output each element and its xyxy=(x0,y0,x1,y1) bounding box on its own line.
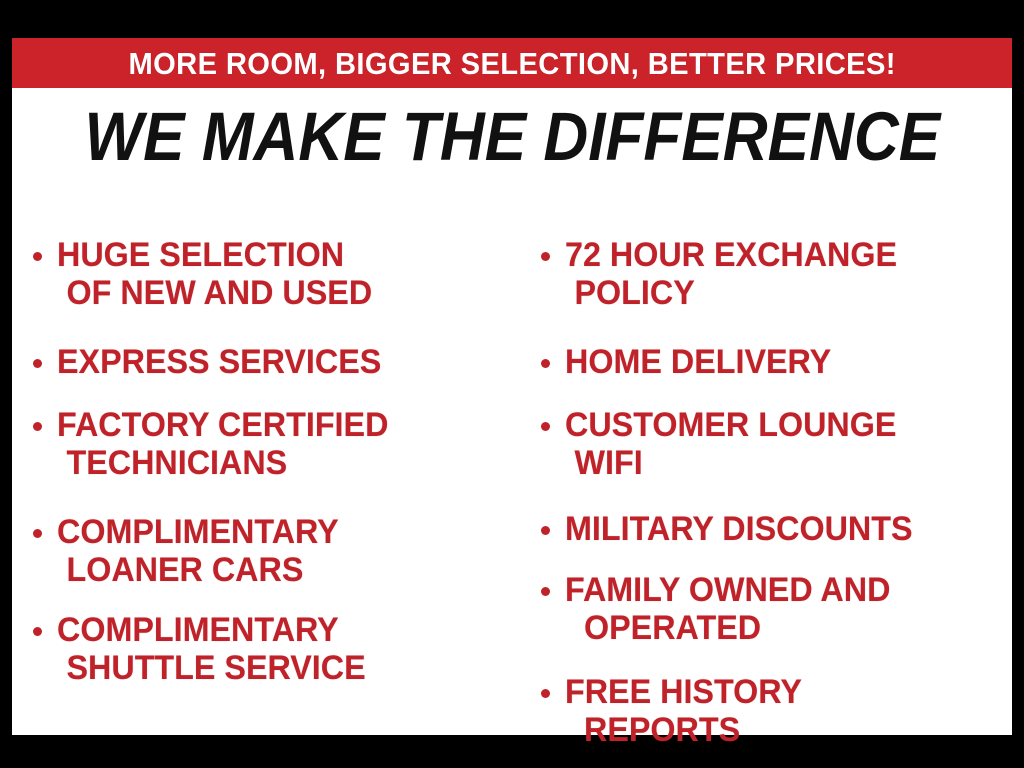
bullet-dot-icon xyxy=(33,529,42,538)
benefit-item-text: FACTORY CERTIFIEDTECHNICIANS xyxy=(57,406,512,482)
benefit-item: FAMILY OWNED ANDOPERATED xyxy=(532,571,1017,647)
benefit-item-text: HOME DELIVERY xyxy=(565,343,1017,381)
benefit-item-line: HOME DELIVERY xyxy=(565,343,994,381)
benefit-item: MILITARY DISCOUNTS xyxy=(532,510,1017,548)
bullet-dot-icon xyxy=(541,587,550,596)
benefit-item-line: 72 HOUR EXCHANGE xyxy=(565,236,994,274)
benefit-item-text: FAMILY OWNED ANDOPERATED xyxy=(565,571,1017,647)
bullet-dot-icon xyxy=(541,252,550,261)
benefit-item: HOME DELIVERY xyxy=(532,343,1017,381)
benefit-item: EXPRESS SERVICES xyxy=(24,343,512,381)
bullet-dot-icon xyxy=(33,627,42,636)
benefits-column-left: HUGE SELECTIONOF NEW AND USEDEXPRESS SER… xyxy=(12,198,512,735)
promo-banner-text: MORE ROOM, BIGGER SELECTION, BETTER PRIC… xyxy=(128,48,895,79)
benefit-item-line: FAMILY OWNED AND xyxy=(565,571,994,609)
benefit-item-text: EXPRESS SERVICES xyxy=(57,343,512,381)
promo-banner: MORE ROOM, BIGGER SELECTION, BETTER PRIC… xyxy=(12,38,1012,88)
benefit-item-line: MILITARY DISCOUNTS xyxy=(565,510,994,548)
benefit-item-line: TECHNICIANS xyxy=(57,444,489,482)
benefit-item-line: FACTORY CERTIFIED xyxy=(57,406,489,444)
benefit-item-text: FREE HISTORYREPORTS xyxy=(565,673,1017,749)
benefits-column-right: 72 HOUR EXCHANGEPOLICYHOME DELIVERYCUSTO… xyxy=(517,198,1017,735)
benefit-item-line: HUGE SELECTION xyxy=(57,236,489,274)
headline-text: WE MAKE THE DIFFERENCE xyxy=(84,102,940,171)
benefit-item: COMPLIMENTARYSHUTTLE SERVICE xyxy=(24,611,512,687)
benefit-item-line: COMPLIMENTARY xyxy=(57,513,489,551)
benefit-item-line: OF NEW AND USED xyxy=(57,274,489,312)
bullet-dot-icon xyxy=(541,359,550,368)
benefit-item: COMPLIMENTARYLOANER CARS xyxy=(24,513,512,589)
benefit-item-text: CUSTOMER LOUNGEWIFI xyxy=(565,406,1017,482)
benefit-item-text: COMPLIMENTARYLOANER CARS xyxy=(57,513,512,589)
benefit-item-text: COMPLIMENTARYSHUTTLE SERVICE xyxy=(57,611,512,687)
benefit-item-line: CUSTOMER LOUNGE xyxy=(565,406,994,444)
benefit-item-line: WIFI xyxy=(565,444,994,482)
benefit-item-line: COMPLIMENTARY xyxy=(57,611,489,649)
benefit-item-text: 72 HOUR EXCHANGEPOLICY xyxy=(565,236,1017,312)
benefit-item-line: LOANER CARS xyxy=(57,551,489,589)
benefit-item: 72 HOUR EXCHANGEPOLICY xyxy=(532,236,1017,312)
bullet-dot-icon xyxy=(541,526,550,535)
benefit-item: CUSTOMER LOUNGEWIFI xyxy=(532,406,1017,482)
bullet-dot-icon xyxy=(33,252,42,261)
poster-sheet: MORE ROOM, BIGGER SELECTION, BETTER PRIC… xyxy=(12,38,1012,735)
benefit-item-text: MILITARY DISCOUNTS xyxy=(565,510,1017,548)
benefit-item: HUGE SELECTIONOF NEW AND USED xyxy=(24,236,512,312)
benefit-item-text: HUGE SELECTIONOF NEW AND USED xyxy=(57,236,512,312)
benefit-item-line: SHUTTLE SERVICE xyxy=(57,649,489,687)
headline: WE MAKE THE DIFFERENCE xyxy=(12,102,1012,171)
benefit-item: FREE HISTORYREPORTS xyxy=(532,673,1017,749)
benefit-item: FACTORY CERTIFIEDTECHNICIANS xyxy=(24,406,512,482)
benefit-item-line: EXPRESS SERVICES xyxy=(57,343,489,381)
bullet-dot-icon xyxy=(541,689,550,698)
benefits-columns: HUGE SELECTIONOF NEW AND USEDEXPRESS SER… xyxy=(12,198,1012,735)
benefit-item-line: REPORTS xyxy=(565,711,994,749)
bullet-dot-icon xyxy=(541,422,550,431)
bullet-dot-icon xyxy=(33,422,42,431)
bullet-dot-icon xyxy=(33,359,42,368)
benefit-item-line: POLICY xyxy=(565,274,994,312)
poster-frame: MORE ROOM, BIGGER SELECTION, BETTER PRIC… xyxy=(0,0,1024,768)
benefit-item-line: OPERATED xyxy=(565,609,994,647)
benefit-item-line: FREE HISTORY xyxy=(565,673,994,711)
